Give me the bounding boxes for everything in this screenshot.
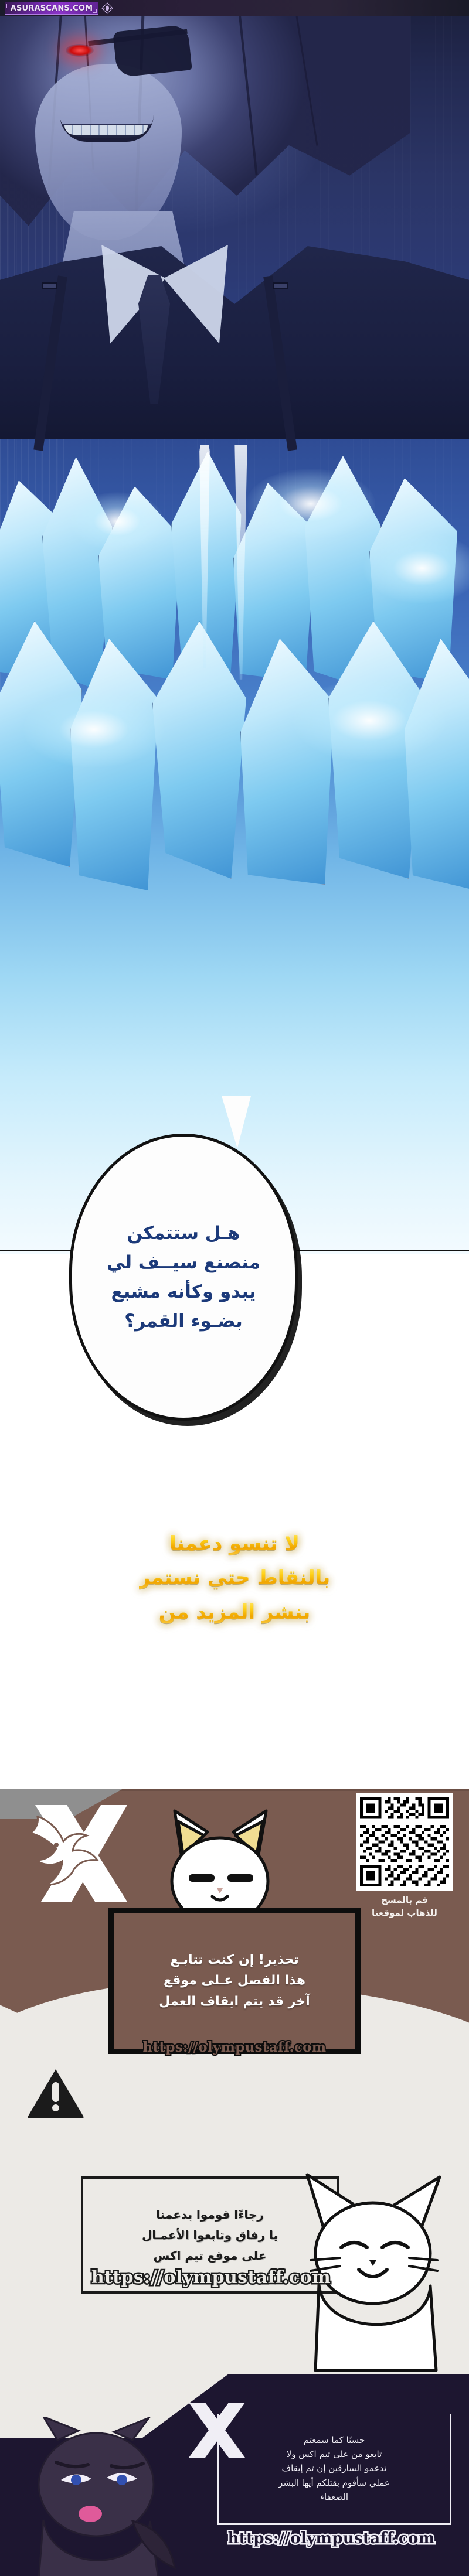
dark-line: حسنًا كما سمعتم xyxy=(278,2433,390,2447)
dark-section-url[interactable]: https://olympustaff.com xyxy=(193,2530,469,2547)
dark-message-box: حسنًا كما سمعتم تابعو من على تيم اكس ولا… xyxy=(217,2414,451,2525)
dark-line: الضعفاء xyxy=(278,2490,390,2504)
character-teeth xyxy=(64,125,148,135)
bat-x-logo-icon xyxy=(182,2399,252,2464)
piracy-warning-text: تحذير! إن كنت تتابـع هذا الفصل عـلى موقع… xyxy=(159,1950,310,2012)
dark-line: تدعمو السارقين إن تم إيقاف xyxy=(278,2461,390,2475)
team-x-eagle-logo-icon xyxy=(13,1799,142,1922)
asura-emblem-icon xyxy=(101,2,114,14)
qr-caption-line: للذهاب لموقعنا xyxy=(346,1907,463,1920)
speech-line: يبدو وكأنه مشبع xyxy=(88,1277,280,1306)
qr-code-icon[interactable] xyxy=(356,1793,453,1891)
dark-message-text: حسنًا كما سمعتم تابعو من على تيم اكس ولا… xyxy=(278,2433,390,2504)
dark-line: تابعو من على تيم اكس ولا xyxy=(278,2447,390,2461)
watermark-bar: ASURASCANS.COM xyxy=(0,0,469,16)
support-banner-line: لا تنسو دعمنا xyxy=(169,1527,300,1561)
warning-triangle-icon xyxy=(26,2067,85,2120)
support-line: رجاءًا قوموا بدعمنا xyxy=(142,2205,278,2225)
support-line: يا رفاق وتابعوا الأعمـال xyxy=(142,2225,278,2246)
suspender-clip xyxy=(42,282,57,289)
cream-section-url[interactable]: https://olympustaff.com xyxy=(64,2267,358,2288)
warning-line: آخر قد يتم ايقاف العمل xyxy=(159,1991,310,2012)
fox-mascot-icon xyxy=(290,2138,465,2373)
main-art-panel xyxy=(0,0,469,1254)
watermark-plate: ASURASCANS.COM xyxy=(5,2,98,15)
speech-bubble: هـل ستتمكن منصنع سيــف لي يبدو وكأنه مشب… xyxy=(69,1134,298,1421)
glowing-red-eye xyxy=(66,44,94,57)
piracy-warning-box: تحذير! إن كنت تتابـع هذا الفصل عـلى موقع… xyxy=(108,1908,361,2054)
warning-line: هذا الفصل عـلى موقع xyxy=(159,1970,310,1991)
support-message-text: رجاءًا قوموا بدعمنا يا رفاق وتابعوا الأع… xyxy=(142,2205,278,2266)
promo-site-url[interactable]: https://olympustaff.com xyxy=(108,2039,361,2055)
imp-mascot-icon xyxy=(18,2417,193,2576)
speech-line: هـل ستتمكن xyxy=(88,1219,280,1248)
comic-page: ASURASCANS.COM هـل ستتمكن منصنع سيــف لي… xyxy=(0,0,469,2576)
speech-bubble-text: هـل ستتمكن منصنع سيــف لي يبدو وكأنه مشب… xyxy=(88,1219,280,1336)
qr-caption-line: قم بالمسح xyxy=(346,1894,463,1907)
dark-line: عملي سأقوم بقتلكم أيها البشر xyxy=(278,2476,390,2490)
warning-line: تحذير! إن كنت تتابـع xyxy=(159,1950,310,1971)
support-banner-line: بالنقاط حتي نستمر xyxy=(139,1561,330,1595)
support-line: على موقع تيم اكس xyxy=(142,2246,278,2266)
watermark-label: ASURASCANS.COM xyxy=(11,4,93,13)
speech-line: منصنع سيــف لي xyxy=(88,1248,280,1277)
support-banner-line: بنشر المزيد من xyxy=(159,1595,311,1629)
suspender-clip xyxy=(273,282,288,289)
support-banner: لا تنسو دعمنا بالنقاط حتي نستمر بنشر الم… xyxy=(0,1500,469,1746)
eye-patch xyxy=(113,25,192,78)
speech-line: بضـوء القمر؟ xyxy=(88,1306,280,1336)
qr-caption: قم بالمسح للذهاب لموقعنا xyxy=(346,1894,463,1920)
